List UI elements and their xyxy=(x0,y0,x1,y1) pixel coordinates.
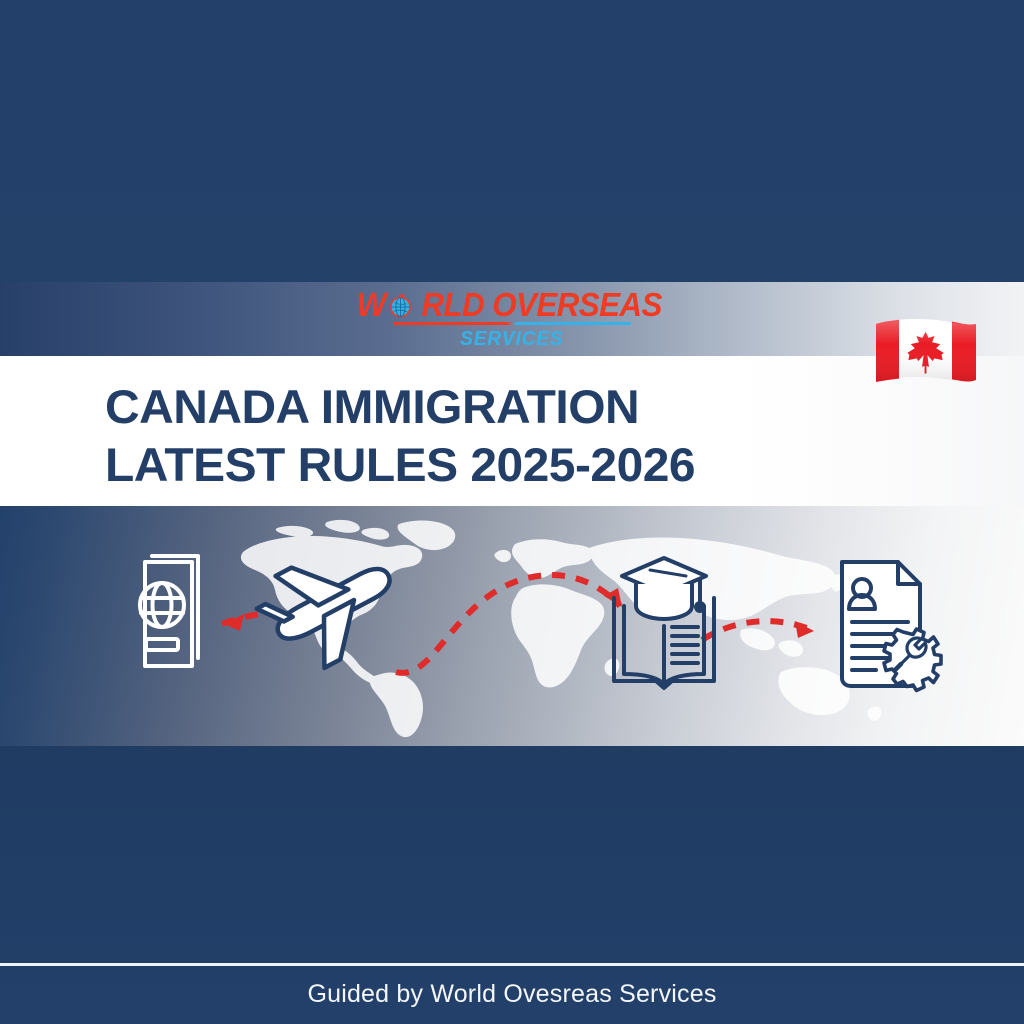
brand-tagline: SERVICES xyxy=(460,328,563,351)
brand-logo: W RLD OVERSEAS SERVICES xyxy=(0,282,1024,356)
logo-band: W RLD OVERSEAS SERVICES xyxy=(0,282,1024,356)
brand-logo-wordmark: W RLD OVERSEAS xyxy=(356,287,668,321)
document-gear-icon xyxy=(842,562,941,691)
brand-wordmark-rest: RLD OVERSEAS xyxy=(421,288,662,321)
footer-divider xyxy=(0,963,1024,966)
graduation-book-icon xyxy=(614,558,714,688)
journey-icons xyxy=(0,506,1024,746)
canada-flag-icon xyxy=(872,316,980,390)
passport-icon xyxy=(140,556,198,666)
title-band: CANADA IMMIGRATION LATEST RULES 2025-202… xyxy=(0,356,1024,506)
airplane-icon xyxy=(247,529,412,683)
illustration-band xyxy=(0,506,1024,746)
page-title: CANADA IMMIGRATION LATEST RULES 2025-202… xyxy=(105,378,860,494)
brand-wordmark-lead: W xyxy=(357,288,386,321)
footer-caption: Guided by World Ovesreas Services xyxy=(0,980,1024,1009)
globe-icon xyxy=(387,292,414,319)
poster-canvas: W RLD OVERSEAS SERVICES xyxy=(0,0,1024,1024)
